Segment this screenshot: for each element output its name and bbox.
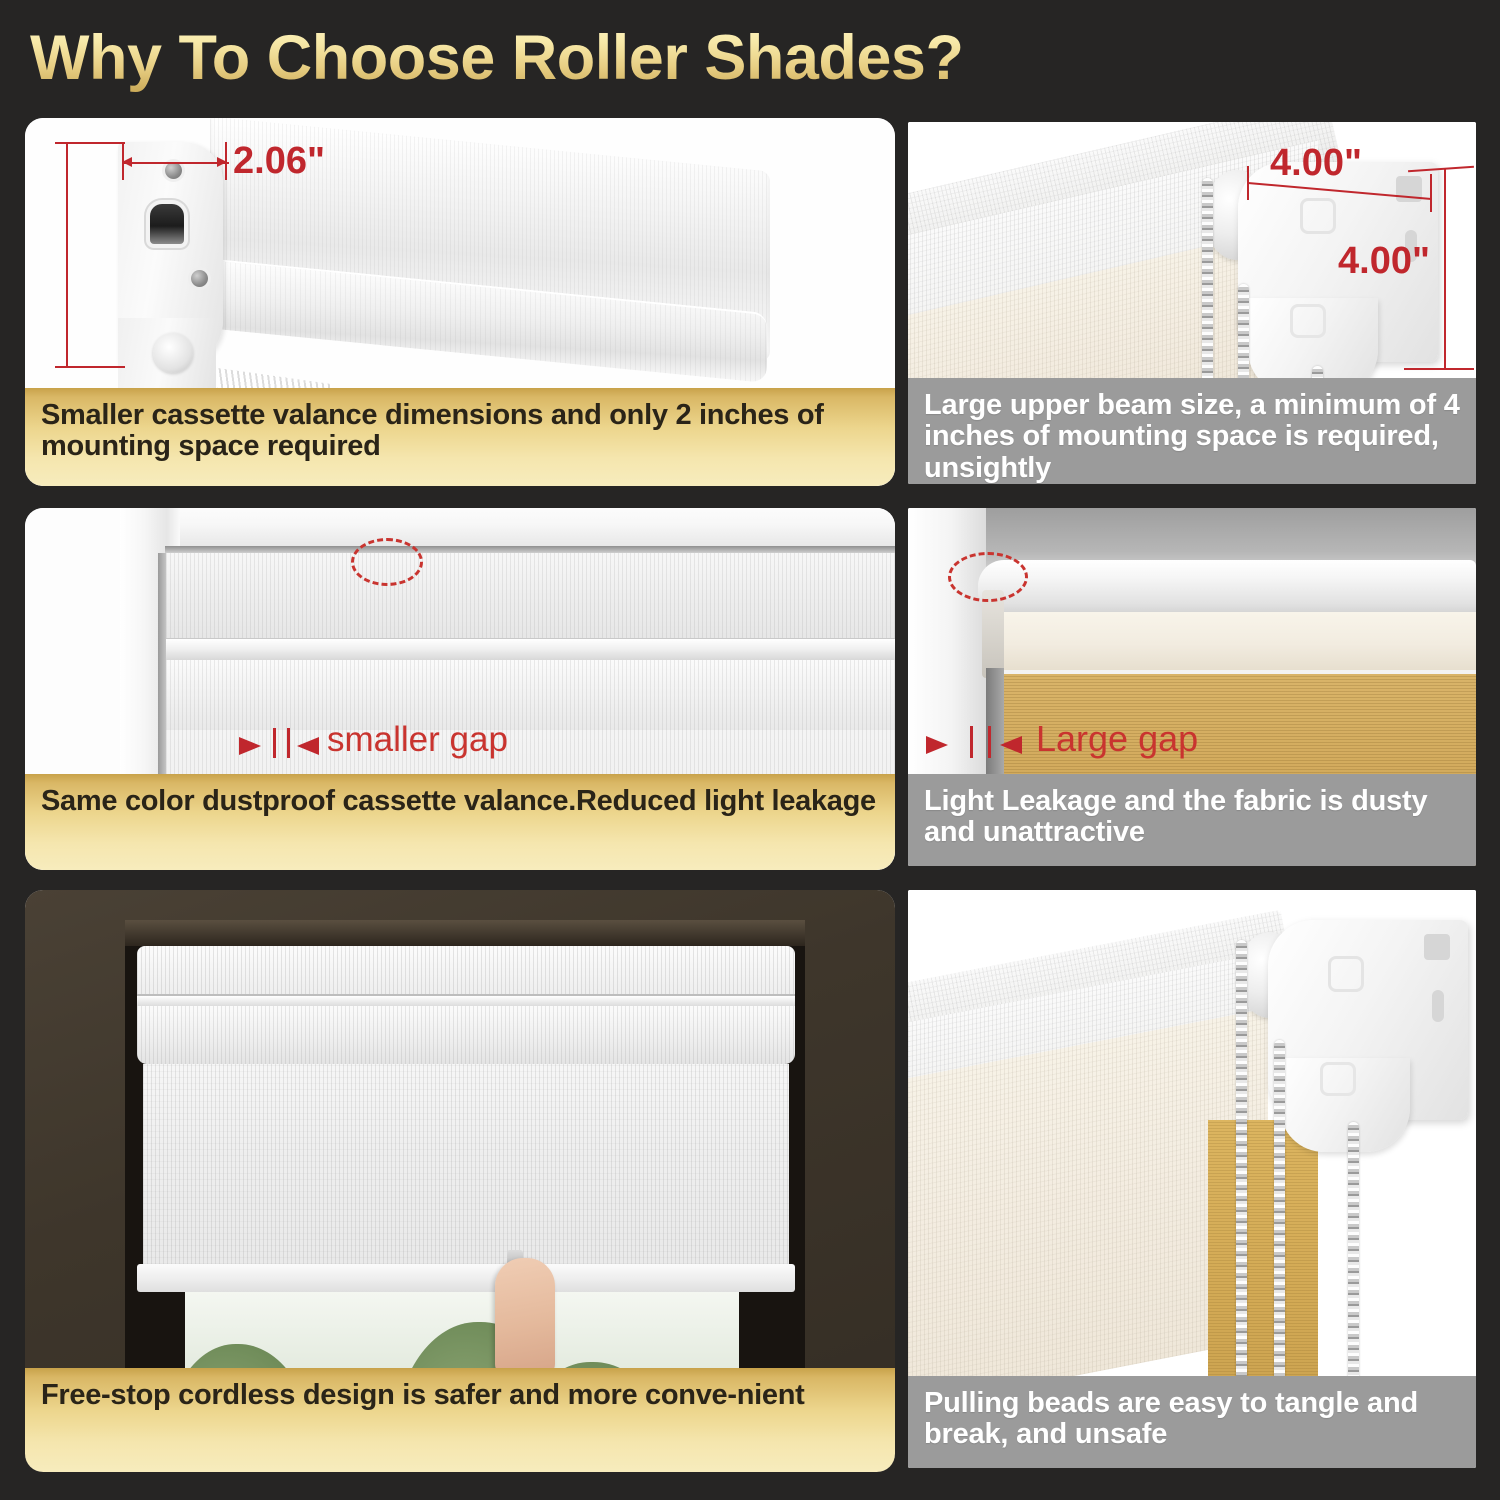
window-head-trim <box>120 508 895 546</box>
panel-4-caption: Light Leakage and the fabric is dusty an… <box>908 774 1476 866</box>
cassette-lower <box>137 1006 795 1064</box>
highlight-circle-icon <box>351 538 423 586</box>
fabric-backing-tan <box>1208 1120 1318 1420</box>
dim-tick-bottom <box>55 366 125 368</box>
dim-line-width <box>124 162 229 164</box>
cassette-seam <box>137 994 795 1006</box>
panel-large-upper-beam[interactable]: 4.00" 4.00" Large upper beam size, a min… <box>908 122 1476 484</box>
panel-5-caption: Free-stop cordless design is safer and m… <box>25 1368 895 1472</box>
gap-arrow-right <box>297 737 319 755</box>
hand <box>495 1258 555 1378</box>
screw-icon <box>191 270 208 287</box>
panel-smaller-cassette[interactable]: 2.06" 5.49" Smaller cassette valance dim… <box>25 118 895 486</box>
dim-tick-bottom <box>1404 368 1474 370</box>
panel-light-leakage[interactable]: Large gap Light Leakage and the fabric i… <box>908 508 1476 866</box>
panel-1-caption: Smaller cassette valance dimensions and … <box>25 388 895 486</box>
roller-tube <box>978 560 1476 618</box>
shade-fabric <box>143 1064 789 1264</box>
shade-upper-panel <box>166 553 895 641</box>
cassette-knob <box>153 333 193 373</box>
bracket-emboss-lower <box>1320 1062 1356 1096</box>
gap-mark-a <box>970 726 973 758</box>
beam-width-label: 4.00" <box>1270 142 1362 185</box>
gap-mark-a <box>273 728 276 758</box>
gap-mark-b <box>287 728 290 758</box>
dim-line-height <box>1444 168 1446 370</box>
gap-arrow-right <box>1000 736 1022 754</box>
panel-cordless-design[interactable]: Free-stop cordless design is safer and m… <box>25 890 895 1472</box>
bracket-fragment <box>982 590 1004 678</box>
panel-2-caption: Large upper beam size, a minimum of 4 in… <box>908 378 1476 484</box>
panel-6-caption: Pulling beads are easy to tangle and bre… <box>908 1376 1476 1468</box>
gap-arrow-left <box>926 736 948 754</box>
bracket-notch-top <box>1424 934 1450 960</box>
width-dimension-label: 2.06" <box>233 140 325 183</box>
cassette-slot <box>150 204 184 244</box>
bracket-notch-mid <box>1432 990 1444 1022</box>
dim-arrow-left <box>122 157 132 167</box>
page-title: Why To Choose Roller Shades? <box>30 22 1090 94</box>
shade-lower-panel <box>166 660 895 730</box>
screw-icon <box>165 162 182 179</box>
dim-line-height <box>66 142 68 368</box>
dim-tick-right <box>1430 174 1432 212</box>
dim-arrow-right <box>217 157 227 167</box>
bracket-emboss-lower <box>1290 304 1326 338</box>
window-reveal <box>125 920 805 946</box>
bracket-emboss-upper <box>1328 956 1364 992</box>
bracket-emboss-upper <box>1300 198 1336 234</box>
shade-top-gap <box>165 546 895 553</box>
valance-strip <box>996 612 1476 670</box>
beam-height-label: 4.00" <box>1338 240 1430 283</box>
highlight-circle-icon <box>948 552 1028 602</box>
shade-mid-rail <box>162 638 895 660</box>
panel-3-caption: Same color dustproof cassette valance.Re… <box>25 774 895 870</box>
gap-mark-b <box>988 726 991 758</box>
panel-dustproof-valance[interactable]: smaller gap Same color dustproof cassett… <box>25 508 895 870</box>
gap-arrow-left <box>239 737 261 755</box>
shade-bottom-bar <box>137 1264 795 1292</box>
panel-pulling-beads[interactable]: Pulling beads are easy to tangle and bre… <box>908 890 1476 1468</box>
smaller-gap-label: smaller gap <box>327 720 508 760</box>
dim-tick-top <box>55 142 125 144</box>
large-gap-label: Large gap <box>1036 718 1198 760</box>
